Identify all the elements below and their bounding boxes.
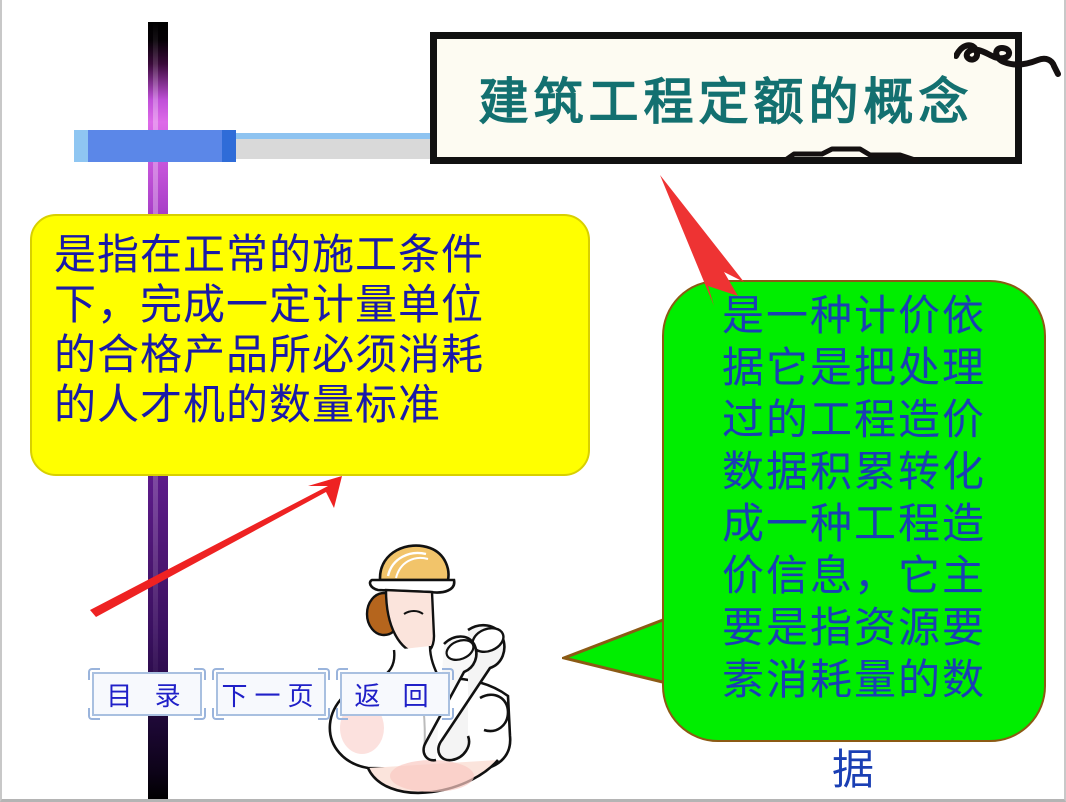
corner-bracket-icon <box>318 708 330 720</box>
green-callout-line-1: 是一种计价依 <box>689 290 1019 342</box>
slide-canvas: 建筑工程定额的概念 是指在正常的施工条件 下，完成一定计量单位 的合格产品所必须… <box>0 0 1066 802</box>
yellow-callout-line-4: 的人才机的数量标准 <box>54 380 566 430</box>
corner-bracket-icon <box>318 668 330 680</box>
engineer-with-blueprints-illustration <box>322 518 622 802</box>
title-box: 建筑工程定额的概念 <box>430 32 1022 164</box>
horizontal-bar-trail <box>230 139 435 159</box>
corner-bracket-icon <box>442 708 454 720</box>
corner-bracket-icon <box>212 708 224 720</box>
navigation-buttons: 目 录 下一页 返 回 <box>92 672 450 716</box>
corner-bracket-icon <box>212 668 224 680</box>
corner-bracket-icon <box>442 668 454 680</box>
green-callout-line-6: 价信息，它主 <box>689 550 1019 602</box>
next-page-button-label: 下一页 <box>221 676 320 713</box>
green-callout-line-2: 据它是把处理 <box>689 342 1019 394</box>
green-callout-line-7: 要是指资源要 <box>689 602 1019 654</box>
corner-bracket-icon <box>194 708 206 720</box>
yellow-callout-box: 是指在正常的施工条件 下，完成一定计量单位 的合格产品所必须消耗 的人才机的数量… <box>30 214 590 476</box>
next-page-button[interactable]: 下一页 <box>216 672 326 716</box>
corner-bracket-icon <box>336 708 348 720</box>
yellow-callout-line-3: 的合格产品所必须消耗 <box>54 330 566 380</box>
green-callout-box: 是一种计价依 据它是把处理 过的工程造价 数据积累转化 成一种工程造 价信息，它… <box>662 280 1046 742</box>
green-callout-line-3: 过的工程造价 <box>689 394 1019 446</box>
green-callout-line-5: 成一种工程造 <box>689 498 1019 550</box>
back-button[interactable]: 返 回 <box>340 672 450 716</box>
yellow-callout-line-2: 下，完成一定计量单位 <box>54 280 566 330</box>
green-callout-line-9-overflow: 据 <box>662 744 1046 796</box>
corner-bracket-icon <box>88 668 100 680</box>
horizontal-blue-bar <box>74 130 234 162</box>
yellow-callout-line-1: 是指在正常的施工条件 <box>54 230 566 280</box>
corner-bracket-icon <box>88 708 100 720</box>
corner-bracket-icon <box>194 668 206 680</box>
green-callout-line-4: 数据积累转化 <box>689 446 1019 498</box>
page-title: 建筑工程定额的概念 <box>479 62 974 134</box>
horizontal-blue-bar-end <box>222 130 236 162</box>
corner-bracket-icon <box>336 668 348 680</box>
horizontal-blue-bar-cap <box>74 130 88 162</box>
back-button-label: 返 回 <box>354 676 435 713</box>
contents-button[interactable]: 目 录 <box>92 672 202 716</box>
red-arrow-to-yellow-callout <box>90 476 342 617</box>
green-callout-line-8: 素消耗量的数 <box>689 654 1019 706</box>
torn-edge-squiggle-icon <box>954 34 1066 82</box>
contents-button-label: 目 录 <box>106 676 187 713</box>
torn-edge-squiggle-bottom-icon <box>750 143 920 169</box>
